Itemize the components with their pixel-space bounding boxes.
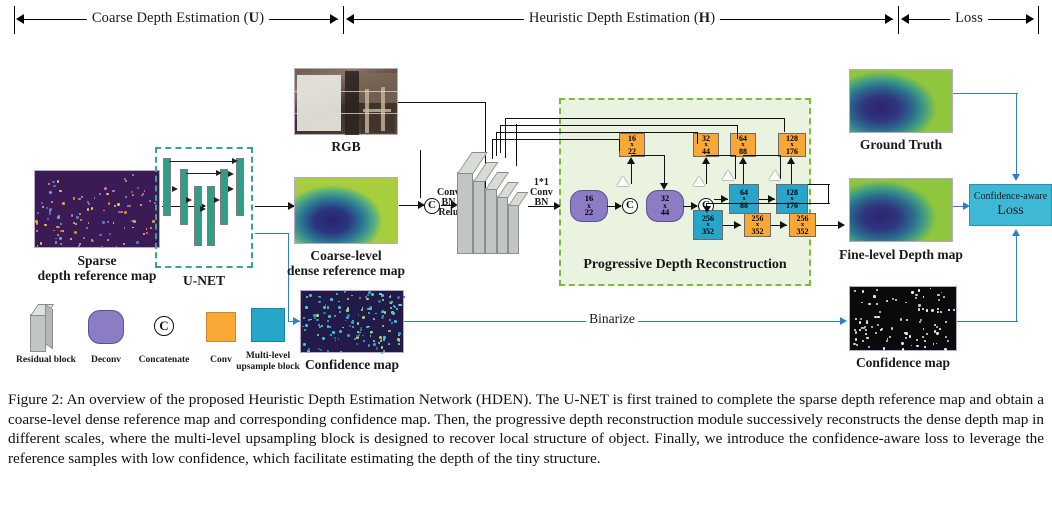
map-dot bbox=[113, 222, 115, 224]
map-dot bbox=[347, 298, 350, 301]
map-dot bbox=[868, 303, 870, 305]
map-dot bbox=[351, 295, 352, 296]
map-dot bbox=[125, 196, 127, 198]
map-dot bbox=[922, 308, 924, 310]
map-dot bbox=[322, 337, 325, 340]
unet-flow-2 bbox=[186, 197, 192, 203]
map-dot bbox=[116, 246, 118, 248]
map-dot bbox=[382, 299, 384, 301]
pdr-edge-conv256a-conv256b-arrow bbox=[780, 221, 787, 229]
span-arrow-right-1 bbox=[885, 14, 893, 24]
span-tick-1 bbox=[343, 6, 344, 34]
map-dot bbox=[375, 313, 377, 315]
edge-gt-to-loss-arrow bbox=[1012, 174, 1020, 181]
map-dot bbox=[347, 334, 350, 337]
confidence-map-image bbox=[300, 290, 404, 353]
map-dot bbox=[388, 343, 389, 344]
unet-bar-1 bbox=[163, 158, 171, 216]
map-dot bbox=[57, 234, 60, 237]
map-dot bbox=[924, 346, 926, 348]
map-dot bbox=[936, 326, 938, 328]
map-dot bbox=[373, 343, 375, 345]
edge-binarize-arrow bbox=[840, 317, 847, 325]
map-dot bbox=[398, 343, 400, 345]
map-dot bbox=[359, 297, 361, 299]
map-dot bbox=[55, 238, 57, 240]
concatenate-node-2: C bbox=[622, 198, 638, 214]
rgb-image bbox=[294, 68, 398, 135]
map-dot bbox=[933, 343, 935, 345]
skip-line-2-drop bbox=[737, 125, 738, 139]
map-dot bbox=[370, 331, 372, 333]
map-dot bbox=[41, 202, 43, 204]
map-dot bbox=[53, 230, 55, 232]
map-dot bbox=[83, 237, 85, 239]
map-dot bbox=[349, 325, 351, 327]
map-dot bbox=[918, 289, 921, 292]
map-dot bbox=[370, 335, 372, 337]
figure-panel: Coarse Depth Estimation (U) Heuristic De… bbox=[0, 0, 1052, 508]
map-dot bbox=[866, 322, 868, 324]
coarse-caption-line2: dense reference map bbox=[287, 263, 405, 278]
map-dot bbox=[44, 224, 47, 227]
map-dot bbox=[937, 311, 939, 313]
map-dot bbox=[60, 223, 62, 225]
map-dot bbox=[923, 296, 925, 298]
map-dot bbox=[319, 296, 321, 298]
pdr-edge-conv16-to-dec32-h bbox=[631, 155, 665, 156]
map-dot bbox=[874, 316, 876, 318]
map-dot bbox=[79, 213, 81, 215]
pdr-edge-dec32-concat3-arrow bbox=[691, 202, 698, 210]
map-dot bbox=[871, 326, 873, 328]
map-dot bbox=[78, 245, 80, 247]
edge-unet-to-conf-h1 bbox=[255, 233, 289, 234]
map-dot bbox=[358, 314, 360, 316]
map-dot bbox=[930, 288, 932, 290]
map-dot bbox=[150, 227, 152, 229]
deconv-block-32x44: 32 x 44 bbox=[646, 190, 684, 222]
map-dot bbox=[868, 346, 870, 348]
map-dot bbox=[91, 207, 93, 209]
map-dot bbox=[91, 239, 93, 241]
fine-level-depth-map-image bbox=[849, 178, 953, 242]
map-dot bbox=[340, 351, 341, 352]
map-dot bbox=[381, 316, 384, 319]
map-dot bbox=[137, 187, 139, 189]
span-arrow-left-1 bbox=[346, 14, 354, 24]
map-dot bbox=[120, 211, 123, 214]
map-dot bbox=[59, 190, 61, 192]
map-dot bbox=[304, 329, 306, 331]
one-by-one-conv-bn-label: 1*1 Conv BN bbox=[530, 178, 553, 208]
rgb-texture bbox=[295, 91, 399, 92]
map-dot bbox=[373, 340, 375, 342]
sparse-caption-line2: depth reference map bbox=[38, 268, 157, 283]
map-dot bbox=[112, 190, 115, 193]
map-dot bbox=[317, 334, 319, 336]
map-dot bbox=[956, 308, 958, 310]
map-dot bbox=[74, 231, 77, 234]
map-dot bbox=[366, 298, 369, 301]
map-dot bbox=[88, 222, 90, 224]
map-dot bbox=[36, 222, 39, 225]
conv-block-64x88: 64 x 88 bbox=[730, 133, 756, 157]
coarse-caption-line1: Coarse-level bbox=[310, 248, 381, 263]
map-dot bbox=[895, 299, 897, 301]
legend-label-residual-block: Residual block bbox=[16, 355, 76, 366]
map-dot bbox=[334, 315, 336, 317]
pdr-edge-ups128-right bbox=[808, 184, 830, 185]
map-dot bbox=[947, 340, 949, 342]
map-dot bbox=[149, 200, 151, 202]
map-dot bbox=[76, 216, 78, 218]
map-dot bbox=[918, 304, 920, 306]
map-dot bbox=[303, 317, 305, 319]
map-dot bbox=[902, 348, 905, 351]
conv-block-16x22: 16 x 22 bbox=[619, 133, 645, 157]
map-dot bbox=[367, 294, 369, 296]
map-dot bbox=[367, 308, 370, 311]
pdr-edge-ups64-ups128-arrow bbox=[768, 195, 775, 203]
map-dot bbox=[944, 348, 946, 350]
map-dot bbox=[303, 343, 305, 345]
map-dot bbox=[381, 294, 383, 296]
map-dot bbox=[361, 309, 363, 311]
map-dot bbox=[892, 298, 894, 300]
unet-flow-1 bbox=[172, 186, 178, 192]
map-dot bbox=[940, 311, 942, 313]
map-dot bbox=[368, 344, 371, 347]
map-dot bbox=[906, 319, 908, 321]
map-dot bbox=[332, 331, 335, 334]
pdr-edge-conv64-arrow bbox=[739, 157, 747, 164]
skip-line-4-drop bbox=[619, 139, 620, 151]
map-dot bbox=[916, 345, 918, 347]
map-dot bbox=[876, 303, 878, 305]
upsample-arrow-1 bbox=[617, 176, 629, 186]
map-dot bbox=[327, 350, 329, 352]
residual-block-stack bbox=[457, 150, 529, 258]
map-dot bbox=[862, 290, 864, 292]
map-dot bbox=[938, 299, 940, 301]
unet-flow-6 bbox=[228, 171, 234, 177]
map-dot bbox=[398, 332, 401, 335]
map-dot bbox=[75, 223, 77, 225]
span-tick-3 bbox=[1038, 6, 1039, 34]
map-dot bbox=[356, 335, 358, 337]
map-dot bbox=[879, 311, 881, 313]
legend-deconv-icon bbox=[88, 310, 124, 344]
pdr-edge-conv32-arrow bbox=[702, 157, 710, 164]
unet-skip-2-arrow bbox=[216, 170, 222, 176]
map-dot bbox=[855, 318, 857, 320]
map-dot bbox=[856, 344, 858, 346]
map-dot bbox=[936, 343, 938, 345]
span-tick-2 bbox=[898, 6, 899, 34]
map-dot bbox=[144, 190, 146, 192]
pdr-edge-conv128-arrow bbox=[787, 157, 795, 164]
map-dot bbox=[953, 309, 955, 311]
skip-src-3 bbox=[496, 132, 497, 156]
legend-label-upsample-line2: upsample block bbox=[236, 362, 300, 373]
map-dot bbox=[78, 198, 80, 200]
map-dot bbox=[146, 228, 148, 230]
legend-residual-block-icon bbox=[30, 304, 60, 352]
skip-line-1-drop bbox=[784, 118, 785, 132]
map-dot bbox=[306, 296, 308, 298]
map-dot bbox=[330, 298, 333, 301]
map-dot bbox=[327, 325, 329, 327]
map-dot bbox=[133, 220, 135, 222]
multi-level-upsample-block-256x352: 256 x 352 bbox=[693, 210, 723, 240]
map-dot bbox=[107, 221, 109, 223]
map-dot bbox=[901, 342, 903, 344]
map-dot bbox=[132, 194, 134, 196]
map-dot bbox=[334, 337, 336, 339]
pdr-edge-conv16-to-dec32-v bbox=[664, 155, 665, 185]
unet-skip-2 bbox=[186, 173, 219, 174]
map-dot bbox=[382, 325, 384, 327]
map-dot bbox=[60, 243, 62, 245]
map-dot bbox=[362, 316, 365, 319]
edge-skip-a-v bbox=[420, 150, 421, 198]
map-dot bbox=[390, 307, 393, 310]
map-dot bbox=[323, 306, 326, 309]
map-dot bbox=[873, 295, 876, 298]
map-dot bbox=[125, 180, 127, 182]
map-dot bbox=[309, 294, 311, 296]
pdr-label: Progressive Depth Reconstruction bbox=[583, 257, 786, 273]
map-dot bbox=[81, 196, 83, 198]
confidence-aware-loss-box: Confidence-aware Loss bbox=[969, 184, 1052, 226]
loss-label-line1: Confidence-aware bbox=[974, 191, 1047, 203]
legend-label-deconv: Deconv bbox=[91, 355, 121, 366]
map-dot bbox=[59, 237, 61, 239]
map-dot bbox=[132, 174, 134, 176]
map-dot bbox=[383, 350, 385, 352]
map-dot bbox=[131, 191, 133, 193]
map-dot bbox=[924, 340, 926, 342]
map-dot bbox=[101, 246, 103, 248]
map-dot bbox=[880, 329, 882, 331]
pdr-edge-ups256-conv256a-arrow bbox=[734, 221, 741, 229]
legend-multi-level-upsample-icon bbox=[251, 308, 285, 342]
pdr-edge-conv64-h bbox=[743, 155, 781, 156]
map-dot bbox=[109, 233, 111, 235]
map-dot bbox=[392, 312, 394, 314]
map-dot bbox=[859, 329, 861, 331]
map-dot bbox=[371, 293, 374, 296]
map-dot bbox=[919, 321, 921, 323]
map-dot bbox=[107, 239, 109, 241]
map-dot bbox=[316, 319, 319, 322]
upsample-arrow-3 bbox=[722, 170, 734, 180]
map-dot bbox=[391, 322, 393, 324]
pdr-edge-out-arrow bbox=[838, 221, 845, 229]
map-dot bbox=[875, 332, 877, 334]
map-dot bbox=[945, 321, 947, 323]
binarize-label: Binarize bbox=[586, 311, 638, 327]
map-dot bbox=[136, 241, 139, 244]
pdr-edge-conv32-h bbox=[706, 155, 736, 156]
map-dot bbox=[342, 327, 344, 329]
sparse-depth-reference-map-image bbox=[34, 170, 160, 248]
map-dot bbox=[51, 201, 53, 203]
map-dot bbox=[146, 232, 148, 234]
map-dot bbox=[71, 214, 73, 216]
map-dot bbox=[86, 227, 88, 229]
map-dot bbox=[357, 322, 360, 325]
map-dot bbox=[124, 211, 127, 214]
map-dot bbox=[911, 291, 913, 293]
ground-truth-caption: Ground Truth bbox=[860, 137, 942, 152]
map-dot bbox=[941, 292, 943, 294]
map-dot bbox=[40, 242, 43, 245]
map-dot bbox=[114, 205, 116, 207]
confidence-map-bw-caption: Confidence map bbox=[856, 355, 950, 370]
map-dot bbox=[943, 296, 945, 298]
map-dot bbox=[883, 347, 885, 349]
figure-caption: Figure 2: An overview of the proposed He… bbox=[8, 390, 1044, 468]
map-dot bbox=[335, 340, 337, 342]
map-dot bbox=[55, 241, 57, 243]
map-dot bbox=[57, 216, 60, 219]
map-dot bbox=[934, 330, 936, 332]
map-dot bbox=[937, 294, 939, 296]
map-dot bbox=[94, 197, 96, 199]
skip-line-1 bbox=[505, 118, 785, 119]
map-dot bbox=[390, 302, 392, 304]
skip-src-2 bbox=[500, 125, 501, 153]
map-dot bbox=[99, 234, 102, 237]
unet-flow-3 bbox=[200, 206, 206, 212]
map-dot bbox=[305, 306, 307, 308]
skip-line-4 bbox=[492, 139, 620, 140]
unet-bar-3 bbox=[194, 186, 202, 246]
edge-confbw-to-loss-h bbox=[957, 321, 1018, 322]
map-dot bbox=[49, 191, 52, 194]
unet-flow-5 bbox=[228, 186, 234, 192]
pdr-edge-loop-arrow bbox=[703, 206, 711, 213]
map-dot bbox=[307, 350, 310, 353]
map-dot bbox=[939, 328, 941, 330]
map-dot bbox=[865, 333, 867, 335]
map-dot bbox=[905, 337, 907, 339]
span-label-loss: Loss bbox=[950, 10, 988, 27]
map-dot bbox=[352, 326, 354, 328]
map-dot bbox=[363, 340, 365, 342]
map-dot bbox=[347, 307, 349, 309]
map-dot bbox=[397, 296, 400, 299]
conv-block-256x352-b: 256 x 352 bbox=[789, 213, 816, 237]
map-dot bbox=[356, 343, 358, 345]
map-dot bbox=[347, 314, 350, 317]
map-dot bbox=[338, 338, 340, 340]
pdr-edge-ups128-down bbox=[828, 184, 829, 204]
unet-bar-5 bbox=[220, 169, 228, 225]
rgb-texture bbox=[345, 71, 359, 135]
unet-label: U-NET bbox=[183, 273, 225, 288]
pdr-edge-conv16-arrow bbox=[627, 157, 635, 164]
map-dot bbox=[859, 321, 861, 323]
pdr-edge-concat3-ups64-arrow bbox=[721, 195, 728, 203]
map-dot bbox=[948, 309, 950, 311]
unet-skip-1-arrow bbox=[232, 158, 238, 164]
map-dot bbox=[49, 212, 52, 215]
map-dot bbox=[302, 326, 304, 328]
rgb-texture bbox=[295, 113, 399, 114]
map-dot bbox=[909, 335, 911, 337]
map-dot bbox=[106, 193, 108, 195]
span-label-heuristic: Heuristic Depth Estimation (H) bbox=[524, 10, 720, 27]
map-dot bbox=[79, 243, 81, 245]
edge-rgb-h bbox=[398, 102, 486, 103]
map-dot bbox=[336, 293, 338, 295]
edge-res-out-v1 bbox=[505, 118, 506, 158]
map-dot bbox=[862, 340, 864, 342]
edge-res-to-pdr-arrow bbox=[554, 202, 561, 210]
map-dot bbox=[398, 334, 400, 336]
map-dot bbox=[42, 206, 44, 208]
map-dot bbox=[80, 219, 82, 221]
map-dot bbox=[321, 325, 323, 327]
map-dot bbox=[866, 337, 868, 339]
span-label-coarse: Coarse Depth Estimation (U) bbox=[87, 10, 269, 27]
map-dot bbox=[855, 331, 857, 333]
rgb-caption: RGB bbox=[331, 139, 360, 154]
map-dot bbox=[103, 210, 105, 212]
map-dot bbox=[143, 233, 145, 235]
legend-label-conv: Conv bbox=[210, 355, 232, 366]
multi-level-upsample-block-128x176: 128 x 176 bbox=[776, 184, 808, 214]
map-dot bbox=[53, 185, 56, 188]
map-dot bbox=[327, 320, 329, 322]
map-dot bbox=[339, 311, 341, 313]
skip-line-3-drop bbox=[697, 132, 698, 144]
skip-src-4 bbox=[492, 139, 493, 159]
map-dot bbox=[124, 227, 126, 229]
span-tick-0 bbox=[14, 6, 15, 34]
map-dot bbox=[861, 327, 863, 329]
pdr-edge-loop-back bbox=[706, 203, 830, 204]
loss-label-line2: Loss bbox=[997, 203, 1023, 219]
map-dot bbox=[48, 183, 51, 186]
map-dot bbox=[886, 340, 888, 342]
map-dot bbox=[915, 297, 917, 299]
unet-bar-4 bbox=[207, 186, 215, 246]
ground-truth-image bbox=[849, 69, 953, 133]
map-dot bbox=[922, 336, 924, 338]
map-dot bbox=[102, 221, 105, 224]
map-dot bbox=[381, 346, 384, 349]
rgb-texture bbox=[363, 109, 391, 112]
map-dot bbox=[330, 334, 332, 336]
map-dot bbox=[62, 202, 65, 205]
map-dot bbox=[127, 205, 129, 207]
unet-flow-4 bbox=[214, 197, 220, 203]
map-dot bbox=[345, 320, 347, 322]
map-dot bbox=[937, 308, 939, 310]
edge-gt-to-loss-v bbox=[1016, 93, 1017, 177]
map-dot bbox=[104, 187, 107, 190]
map-dot bbox=[389, 330, 391, 332]
map-dot bbox=[328, 315, 331, 318]
conv-block-128x176: 128 x 176 bbox=[778, 133, 806, 157]
map-dot bbox=[62, 230, 64, 232]
map-dot bbox=[308, 319, 310, 321]
pdr-edge-conv32-down-v bbox=[735, 155, 736, 179]
